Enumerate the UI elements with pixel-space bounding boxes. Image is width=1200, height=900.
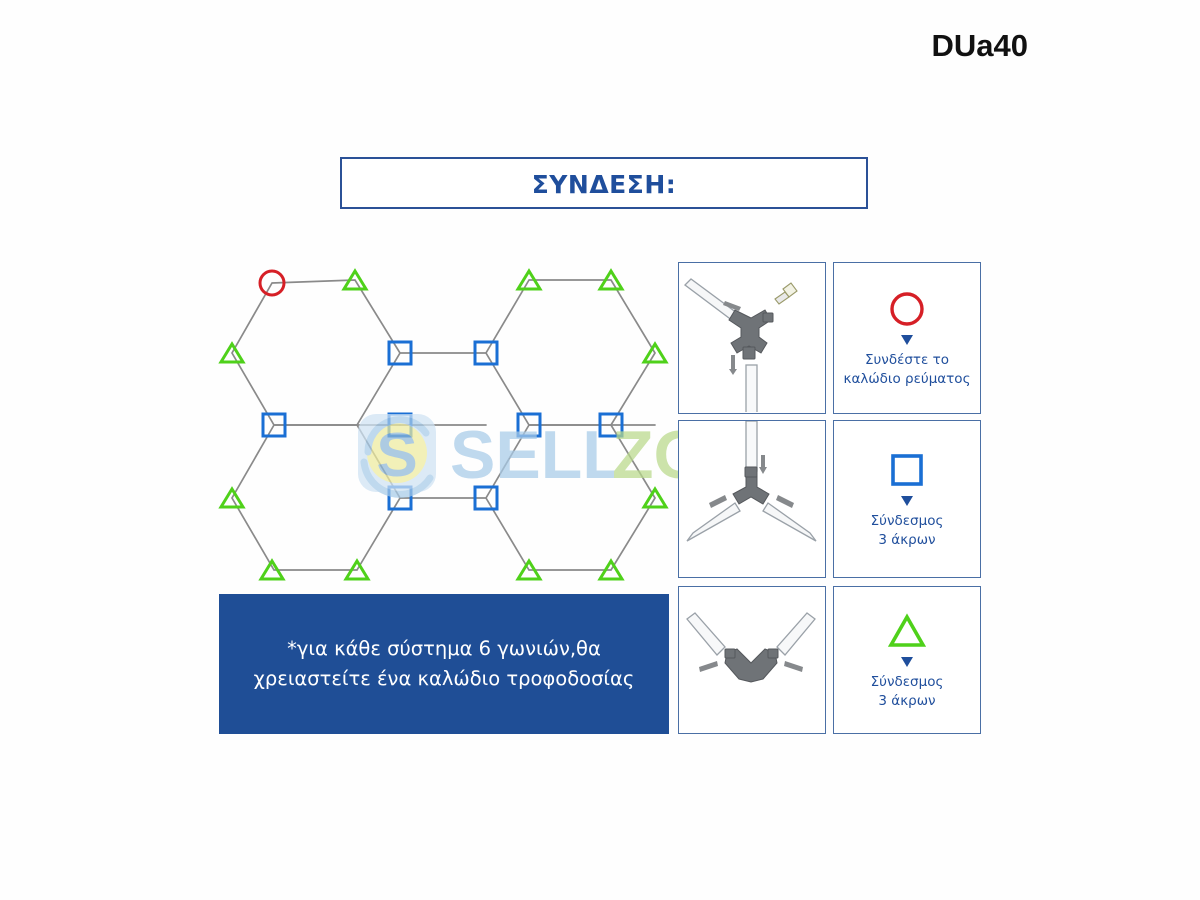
corner-connector-assembly-photo <box>678 586 826 734</box>
legend-label: Σύνδεσμος 3 άκρων <box>871 512 944 550</box>
circle-icon <box>887 287 927 331</box>
legend-power-cable: Συνδέστε το καλώδιο ρεύματος <box>833 262 981 414</box>
page-title: ΣΥΝΔΕΣΗ: <box>342 170 866 199</box>
note-banner: *για κάθε σύστημα 6 γωνιών,θα χρειαστείτ… <box>219 594 669 734</box>
legend-three-way-connector-square: Σύνδεσμος 3 άκρων <box>833 420 981 578</box>
three-way-connector-assembly-photo <box>678 420 826 578</box>
triangle-icon <box>886 609 928 653</box>
legend-label: Συνδέστε το καλώδιο ρεύματος <box>843 351 970 389</box>
down-arrow-icon <box>899 494 915 508</box>
square-icon <box>887 448 927 492</box>
three-way-connector-with-power-cable-photo <box>678 262 826 414</box>
legend-three-way-connector-triangle: Σύνδεσμος 3 άκρων <box>833 586 981 734</box>
legend-label: Σύνδεσμος 3 άκρων <box>871 673 944 711</box>
slide-canvas: DUa40 ΣΥΝΔΕΣΗ: <box>0 0 1200 900</box>
product-code: DUa40 <box>932 28 1029 64</box>
note-text: *για κάθε σύστημα 6 γωνιών,θα χρειαστείτ… <box>254 634 635 694</box>
section-header-box: ΣΥΝΔΕΣΗ: <box>340 157 868 209</box>
down-arrow-icon <box>899 655 915 669</box>
down-arrow-icon <box>899 333 915 347</box>
hexagon-grid-wiring-diagram <box>215 258 675 592</box>
